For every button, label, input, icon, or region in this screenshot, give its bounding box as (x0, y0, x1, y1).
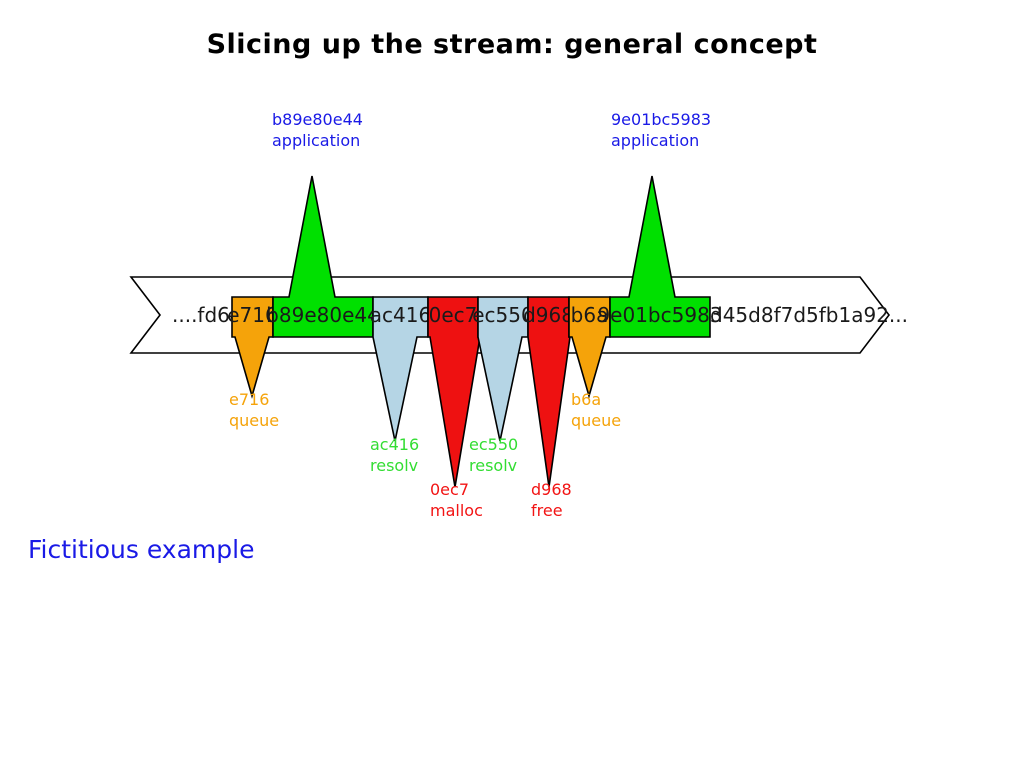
ann-ec550-line1: ec550 (469, 435, 518, 454)
ann-ac416-line1: ac416 (370, 435, 419, 454)
ann-b6a: b6aqueue (571, 390, 621, 430)
block-label-9e01bc5983: 9e01bc5983 (597, 303, 722, 327)
ann-e716-line1: e716 (229, 390, 269, 409)
stream-block-ac416[interactable]: ac416 (370, 297, 431, 441)
ann-d968-line1: d968 (531, 480, 572, 499)
ann-0ec7: 0ec7malloc (430, 480, 483, 520)
ann-9e01bc5983: 9e01bc5983application (611, 110, 711, 150)
block-label-0ec7: 0ec7 (429, 303, 478, 327)
ann-e716: e716queue (229, 390, 279, 430)
ann-ec550-line2: resolv (469, 456, 517, 475)
ann-b89e80e44-line1: b89e80e44 (272, 110, 363, 129)
stream-block-b89e80e44[interactable]: b89e80e44 (266, 176, 380, 337)
ann-b6a-line2: queue (571, 411, 621, 430)
stream-block-d968[interactable]: d968 (523, 297, 574, 487)
stream-suffix-text: d45d8f7d5fb1a92... (710, 303, 908, 327)
ann-b89e80e44: b89e80e44application (272, 110, 363, 150)
slide-title: Slicing up the stream: general concept (207, 29, 818, 60)
ann-d968-line2: free (531, 501, 563, 520)
ann-d968: d968free (531, 480, 572, 520)
footnote-label: Fictitious example (28, 535, 254, 564)
stream-slicing-diagram: Slicing up the stream: general concept .… (0, 0, 1024, 768)
ann-b89e80e44-line2: application (272, 131, 360, 150)
ann-9e01bc5983-line2: application (611, 131, 699, 150)
ann-b6a-line1: b6a (571, 390, 601, 409)
block-label-ac416: ac416 (370, 303, 431, 327)
ann-ec550: ec550resolv (469, 435, 518, 475)
ann-0ec7-line2: malloc (430, 501, 483, 520)
block-label-b89e80e44: b89e80e44 (266, 303, 380, 327)
ann-e716-line2: queue (229, 411, 279, 430)
ann-ac416: ac416resolv (370, 435, 419, 475)
stream-block-9e01bc5983[interactable]: 9e01bc5983 (597, 176, 722, 337)
ann-0ec7-line1: 0ec7 (430, 480, 469, 499)
ann-9e01bc5983-line1: 9e01bc5983 (611, 110, 711, 129)
block-label-d968: d968 (523, 303, 574, 327)
ann-ac416-line2: resolv (370, 456, 418, 475)
slide-canvas: Slicing up the stream: general concept .… (0, 0, 1024, 768)
